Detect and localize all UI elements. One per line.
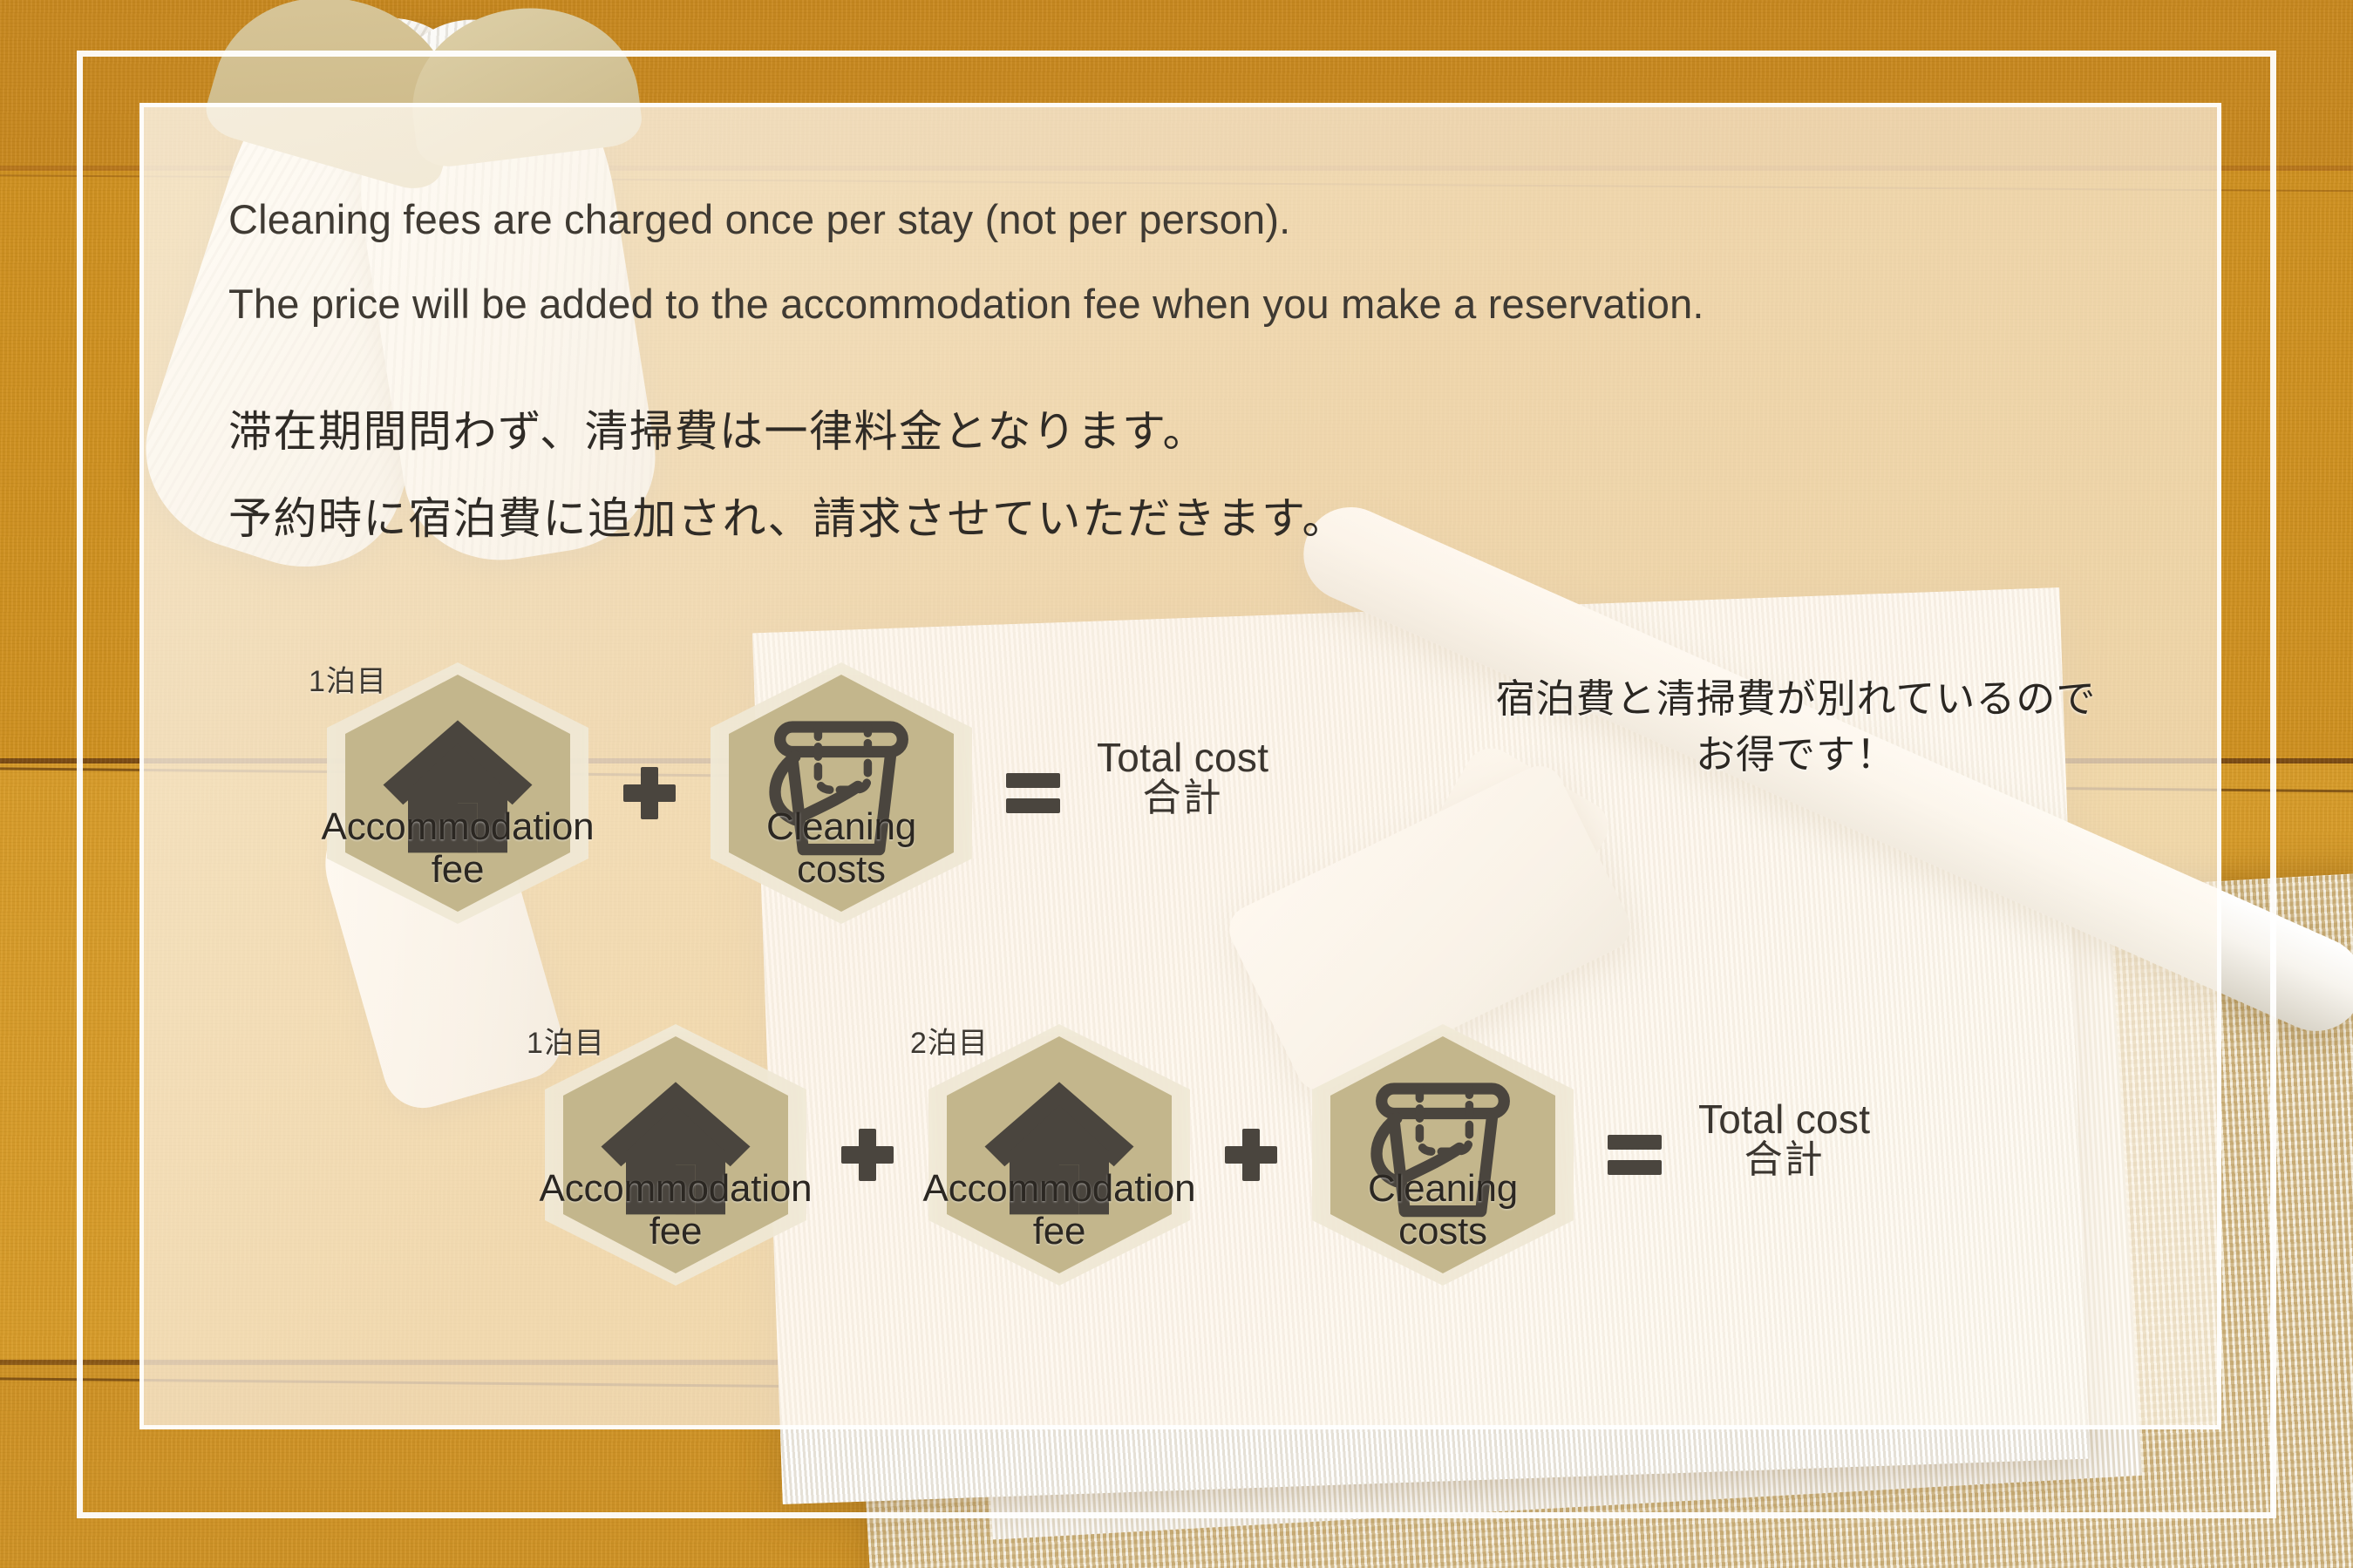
- equation-row-two-nights: 1泊目 Accommodation fee: [532, 1024, 1870, 1286]
- node-label-line-1: Cleaning: [1368, 1167, 1518, 1210]
- hexagon-badge: Cleaning costs: [697, 662, 985, 924]
- notice-japanese-line-2: 予約時に宿泊費に追加され、請求させていただきます。: [228, 497, 1347, 540]
- operator-plus: [602, 662, 697, 924]
- node-accommodation-fee: 1泊目 Accommodation fee: [314, 662, 602, 924]
- node-label: Cleaning costs: [684, 805, 998, 892]
- equation-row-one-night: 1泊目 Accommodation fee: [314, 662, 1268, 924]
- node-label: Accommodation fee: [902, 1167, 1216, 1253]
- total-cost-block: Total cost 合計: [1698, 1099, 1870, 1181]
- node-cleaning-costs: Cleaning costs: [697, 662, 985, 924]
- plus-icon: [841, 1129, 894, 1181]
- operator-plus: [1203, 1024, 1299, 1286]
- content-layer: Cleaning fees are charged once per stay …: [0, 0, 2353, 1568]
- node-label-line-2: costs: [1286, 1210, 1600, 1252]
- node-label: Accommodation fee: [301, 805, 615, 892]
- poster-canvas: Cleaning fees are charged once per stay …: [0, 0, 2353, 1568]
- operator-plus: [819, 1024, 915, 1286]
- notice-japanese-line-1: 滞在期間問わず、清掃費は一律料金となります。: [228, 410, 1207, 453]
- night-number-tag: 1泊目: [527, 1019, 605, 1062]
- plus-icon: [1225, 1129, 1277, 1181]
- total-cost-japanese: 合計: [1097, 778, 1268, 819]
- night-number-tag: 2泊目: [910, 1019, 989, 1062]
- node-label-line-1: Cleaning: [766, 805, 916, 848]
- notice-english-line-1: Cleaning fees are charged once per stay …: [228, 199, 1290, 240]
- hexagon-badge: 2泊目 Accommodation fee: [915, 1024, 1203, 1286]
- total-cost-japanese: 合計: [1698, 1140, 1870, 1181]
- notice-english-line-2: The price will be added to the accommoda…: [228, 283, 1704, 324]
- node-accommodation-fee: 2泊目 Accommodation fee: [915, 1024, 1203, 1286]
- node-label-line-2: fee: [301, 848, 615, 891]
- node-label-line-1: Accommodation: [322, 805, 595, 848]
- node-label: Cleaning costs: [1286, 1167, 1600, 1253]
- total-cost-english: Total cost: [1698, 1099, 1870, 1140]
- plus-icon: [623, 767, 676, 819]
- promo-line-1: 宿泊費と清掃費が別れているので: [1412, 671, 2180, 727]
- hexagon-badge: Cleaning costs: [1299, 1024, 1587, 1286]
- node-label-line-2: fee: [519, 1210, 833, 1252]
- hexagon-badge: 1泊目 Accommodation fee: [532, 1024, 819, 1286]
- node-label-line-1: Accommodation: [923, 1167, 1196, 1210]
- node-label-line-2: costs: [684, 848, 998, 891]
- promo-line-2: お得です！: [1412, 727, 2180, 783]
- node-label-line-1: Accommodation: [540, 1167, 813, 1210]
- operator-equals: [985, 662, 1081, 924]
- hexagon-badge: 1泊目 Accommodation fee: [314, 662, 602, 924]
- total-cost-block: Total cost 合計: [1097, 737, 1268, 819]
- node-label: Accommodation fee: [519, 1167, 833, 1253]
- node-cleaning-costs: Cleaning costs: [1299, 1024, 1587, 1286]
- promo-callout: 宿泊費と清掃費が別れているので お得です！: [1412, 671, 2180, 783]
- node-label-line-2: fee: [902, 1210, 1216, 1252]
- total-cost-english: Total cost: [1097, 737, 1268, 778]
- night-number-tag: 1泊目: [309, 657, 387, 700]
- equals-icon: [1608, 1135, 1662, 1175]
- node-accommodation-fee: 1泊目 Accommodation fee: [532, 1024, 819, 1286]
- equals-icon: [1006, 773, 1060, 813]
- operator-equals: [1587, 1024, 1683, 1286]
